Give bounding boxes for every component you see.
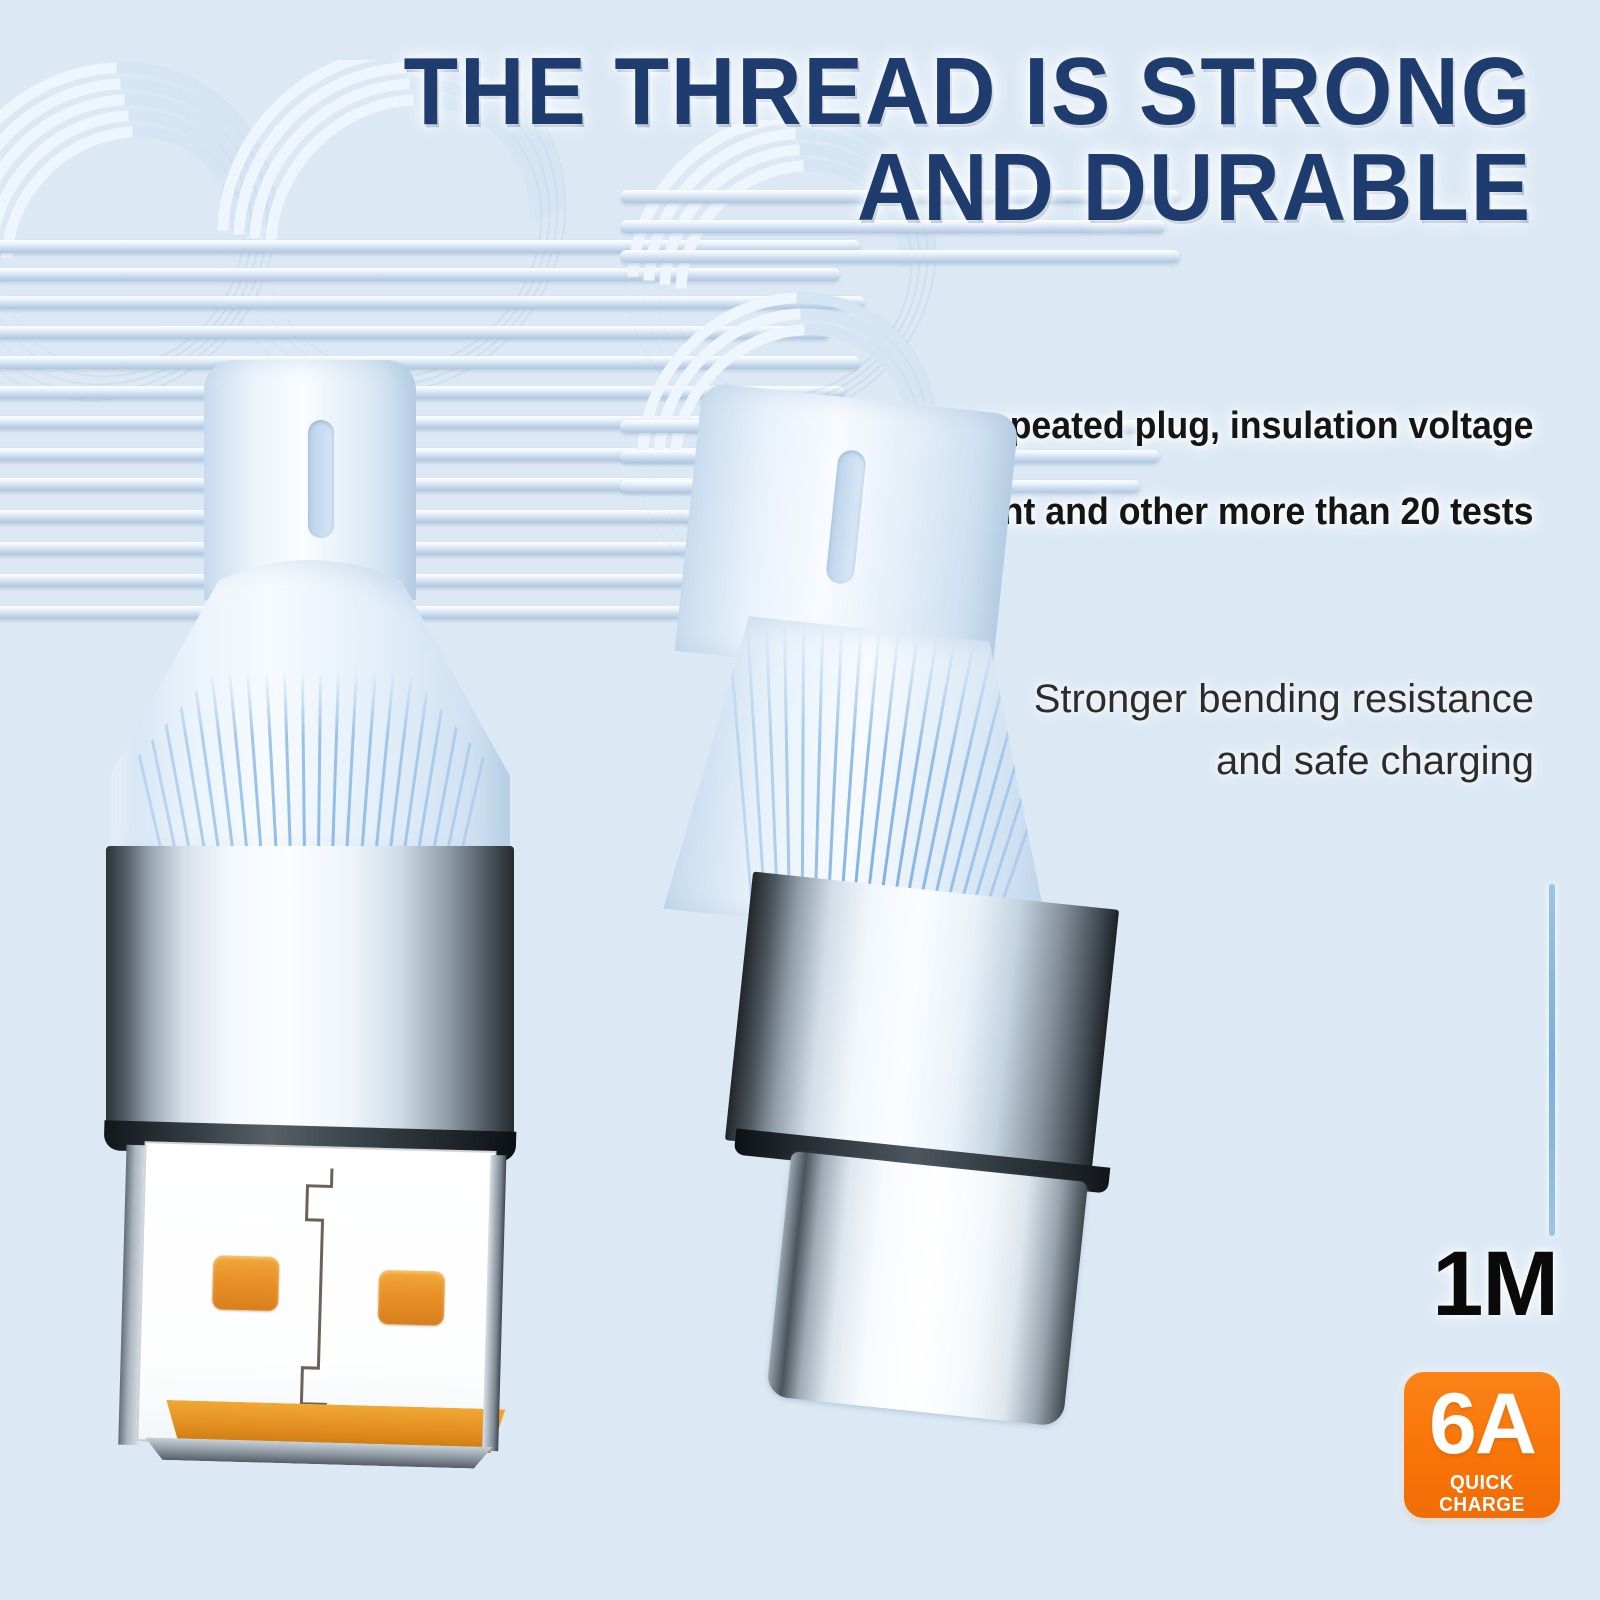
usb-c-plug-tip xyxy=(766,1151,1088,1427)
badge-subtitle: QUICK CHARGE xyxy=(1408,1472,1556,1516)
plug-center-notch xyxy=(295,1168,348,1437)
badge-amperage: 6A xyxy=(1404,1376,1560,1472)
contact-pad-2 xyxy=(378,1270,445,1326)
headline: THE THREAD IS STRONG AND DURABLE xyxy=(211,44,1532,236)
contact-pad-1 xyxy=(212,1255,279,1311)
usb-a-plug-head xyxy=(117,1141,508,1482)
length-measure-line xyxy=(1549,884,1555,1236)
notch-outline-icon xyxy=(295,1168,348,1437)
boot-indent xyxy=(308,420,334,538)
length-label: 1M xyxy=(1432,1238,1558,1330)
usb-a-connector xyxy=(86,560,556,1560)
product-marketing-image: THE THREAD IS STRONG AND DURABLE After r… xyxy=(0,0,1600,1600)
chrome-barrel xyxy=(106,846,514,1136)
quick-charge-badge: 6A QUICK CHARGE xyxy=(1404,1372,1560,1518)
usb-c-connector xyxy=(660,330,1140,1460)
plug-face xyxy=(136,1141,496,1451)
